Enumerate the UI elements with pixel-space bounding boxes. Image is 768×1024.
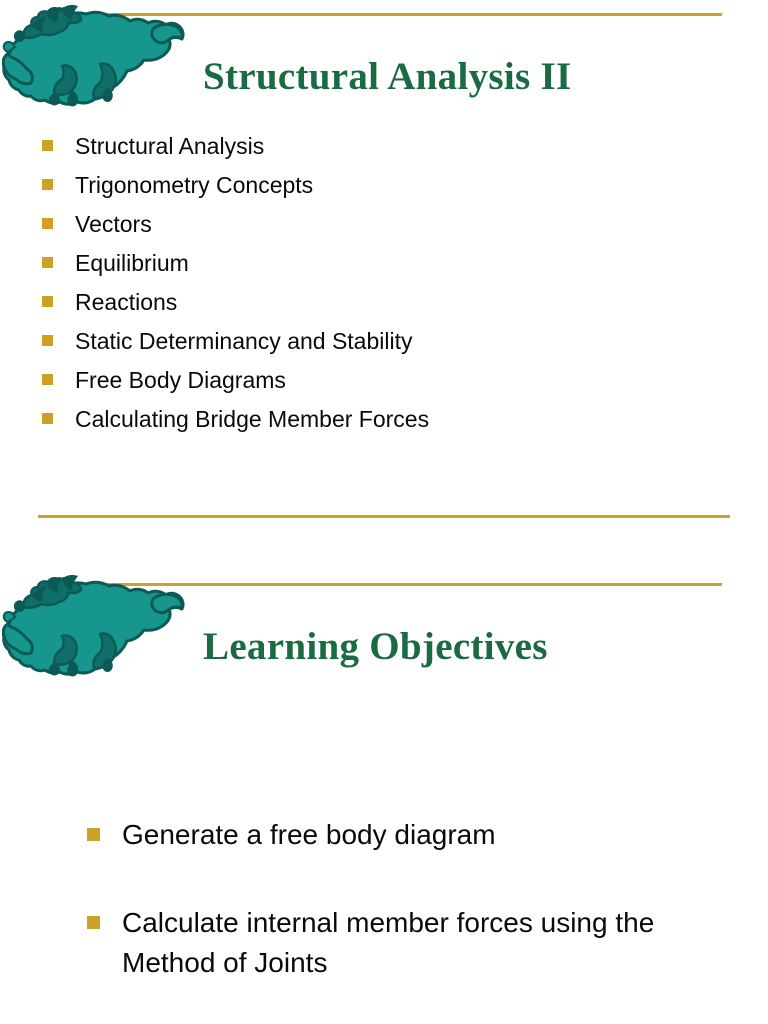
slide-deck-page: Structural Analysis II Structural Analys… [0,0,768,1024]
list-item-label: Equilibrium [75,247,189,280]
list-item: Calculating Bridge Member Forces [0,403,768,436]
mustang-logo-icon [2,4,188,108]
list-item: Generate a free body diagram [0,815,768,855]
header-rule-line [38,583,722,586]
list-item: Trigonometry Concepts [0,169,768,202]
square-bullet-icon [87,828,100,841]
list-item: Vectors [0,208,768,241]
list-item-label: Trigonometry Concepts [75,169,313,202]
page-title: Learning Objectives [203,623,548,671]
list-item: Equilibrium [0,247,768,280]
list-item-label: Calculating Bridge Member Forces [75,403,429,436]
square-bullet-icon [42,335,53,346]
list-item-label: Structural Analysis [75,130,264,163]
slide-1-header: Structural Analysis II [0,0,768,112]
slide-2-body: Generate a free body diagram Calculate i… [0,815,768,983]
slide-2-bullet-list: Generate a free body diagram Calculate i… [0,815,768,983]
square-bullet-icon [42,374,53,385]
slide-1: Structural Analysis II Structural Analys… [0,0,768,516]
header-accent-tick [31,617,34,649]
list-item: Structural Analysis [0,130,768,163]
slide-2: Learning Objectives Generate a free body… [0,570,768,1024]
square-bullet-icon [42,140,53,151]
list-item-label: Free Body Diagrams [75,364,286,397]
slide-1-bullet-list: Structural Analysis Trigonometry Concept… [0,130,768,436]
list-item: Static Determinancy and Stability [0,325,768,358]
list-item-label: Vectors [75,208,152,241]
list-item-label: Calculate internal member forces using t… [122,903,694,983]
square-bullet-icon [42,257,53,268]
square-bullet-icon [42,296,53,307]
slide-2-header: Learning Objectives [0,570,768,682]
slide-1-body: Structural Analysis Trigonometry Concept… [0,130,768,442]
list-item-label: Reactions [75,286,177,319]
square-bullet-icon [42,218,53,229]
list-item: Calculate internal member forces using t… [0,903,768,983]
mustang-logo-icon [2,574,188,678]
list-item-label: Static Determinancy and Stability [75,325,413,358]
page-title: Structural Analysis II [203,53,572,101]
square-bullet-icon [87,916,100,929]
square-bullet-icon [42,179,53,190]
square-bullet-icon [42,413,53,424]
list-item: Free Body Diagrams [0,364,768,397]
header-accent-tick [31,47,34,79]
slide-separator-line [38,515,730,518]
list-item-label: Generate a free body diagram [122,815,496,855]
list-item: Reactions [0,286,768,319]
header-rule-line [38,13,722,16]
